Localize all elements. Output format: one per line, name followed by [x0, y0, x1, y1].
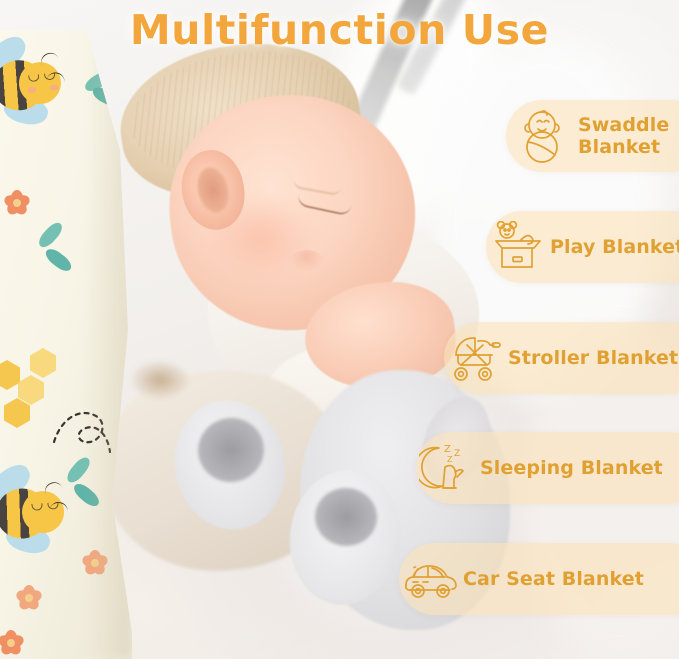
car-icon	[399, 550, 463, 608]
swaddled-baby-icon	[506, 107, 578, 165]
product-feature-image: Multifunction Use Swaddle Blanket	[0, 0, 679, 659]
feature-badge-carseat[interactable]: Car Seat Blanket	[399, 543, 679, 615]
svg-text:Z: Z	[454, 449, 460, 459]
sleeping-moon-cat-icon: Z Z Z	[416, 439, 480, 497]
feature-badge-play[interactable]: Play Blanket	[486, 211, 679, 283]
feature-badge-label: Car Seat Blanket	[463, 568, 644, 590]
feature-badge-label: Swaddle Blanket	[578, 114, 669, 158]
svg-text:Z: Z	[444, 444, 451, 455]
feature-badge-swaddle[interactable]: Swaddle Blanket	[506, 100, 679, 172]
feature-badge-list: Swaddle Blanket Play Blanket	[0, 0, 679, 659]
toy-box-icon	[486, 218, 550, 276]
feature-badge-label: Play Blanket	[550, 236, 679, 258]
feature-badge-label: Stroller Blanket	[508, 347, 678, 369]
svg-text:Z: Z	[447, 455, 453, 464]
baby-pram-icon	[444, 329, 508, 387]
feature-badge-stroller[interactable]: Stroller Blanket	[444, 322, 679, 394]
feature-badge-sleeping[interactable]: Z Z Z Sleeping Blanket	[416, 432, 679, 504]
feature-badge-label: Sleeping Blanket	[480, 457, 663, 479]
